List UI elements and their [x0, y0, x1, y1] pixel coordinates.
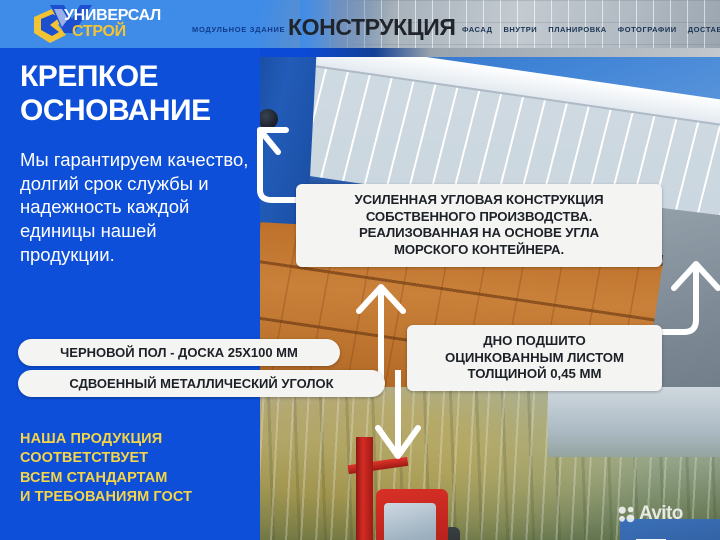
- nav-link-dostavka[interactable]: ДОСТАВКА: [688, 25, 720, 34]
- header-subtitle: МОДУЛЬНОЕ ЗДАНИЕ: [192, 25, 285, 34]
- gost-line-3: ВСЕМ СТАНДАРТАМ: [20, 469, 252, 488]
- body-copy: Мы гарантируем качество, долгий срок слу…: [20, 148, 254, 266]
- headline: КРЕПКОЕ ОСНОВАНИЕ: [20, 60, 260, 127]
- photo-crane-window: [384, 503, 436, 540]
- callout-double-metal-angle: СДВОЕННЫЙ МЕТАЛЛИЧЕСКИЙ УГОЛОК: [18, 370, 385, 397]
- photo-container-corner-casting: [258, 109, 278, 129]
- product-photo: [248, 57, 720, 540]
- headline-line-2: ОСНОВАНИЕ: [20, 94, 260, 128]
- nav-link-planirovka[interactable]: ПЛАНИРОВКА: [548, 25, 607, 34]
- gost-line-2: СООТВЕТСТВУЕТ: [20, 449, 252, 468]
- callout-corner-line-2: СОБСТВЕННОГО ПРОИЗВОДСТВА.: [306, 209, 652, 226]
- nav-link-vnutri[interactable]: ВНУТРИ: [503, 25, 537, 34]
- avito-wordmark: Avito: [639, 503, 683, 525]
- gost-statement: НАША ПРОДУКЦИЯ СООТВЕТСТВУЕТ ВСЕМ СТАНДА…: [20, 430, 252, 507]
- avito-dots-icon: [618, 506, 635, 523]
- photo-crane-mast: [356, 437, 373, 540]
- gost-line-4: И ТРЕБОВАНИЯМ ГОСТ: [20, 488, 252, 507]
- header-nav: ФАСАД ВНУТРИ ПЛАНИРОВКА ФОТОГРАФИИ ДОСТА…: [462, 25, 720, 34]
- avito-watermark: Avito: [618, 503, 683, 525]
- headline-line-1: КРЕПКОЕ: [20, 60, 260, 94]
- callout-corner-line-4: МОРСКОГО КОНТЕЙНЕРА.: [306, 242, 652, 259]
- gost-line-1: НАША ПРОДУКЦИЯ: [20, 430, 252, 449]
- nav-link-fotografii[interactable]: ФОТОГРАФИИ: [618, 25, 677, 34]
- callout-bottom-line-1: ДНО ПОДШИТО: [417, 333, 652, 350]
- page-title: КОНСТРУКЦИЯ: [288, 14, 455, 41]
- callout-corner-line-1: УСИЛЕННАЯ УГЛОВАЯ КОНСТРУКЦИЯ: [306, 192, 652, 209]
- nav-link-fasad[interactable]: ФАСАД: [462, 25, 492, 34]
- callout-subfloor-board: ЧЕРНОВОЙ ПОЛ - ДОСКА 25Х100 ММ: [18, 339, 340, 366]
- logo-text-line2: СТРОЙ: [72, 23, 126, 41]
- callout-bottom-line-3: ТОЛЩИНОЙ 0,45 ММ: [417, 366, 652, 383]
- callout-bottom-line-2: ОЦИНКОВАННЫМ ЛИСТОМ: [417, 350, 652, 367]
- photo-sky-gap: [548, 387, 720, 457]
- universal-stroy-logo[interactable]: УНИВЕРСАЛ СТРОЙ: [28, 3, 168, 47]
- callout-corner-construction: УСИЛЕННАЯ УГЛОВАЯ КОНСТРУКЦИЯ СОБСТВЕННО…: [296, 184, 662, 267]
- callout-corner-line-3: РЕАЛИЗОВАННАЯ НА ОСНОВЕ УГЛА: [306, 225, 652, 242]
- callout-galvanized-bottom: ДНО ПОДШИТО ОЦИНКОВАННЫМ ЛИСТОМ ТОЛЩИНОЙ…: [407, 325, 662, 391]
